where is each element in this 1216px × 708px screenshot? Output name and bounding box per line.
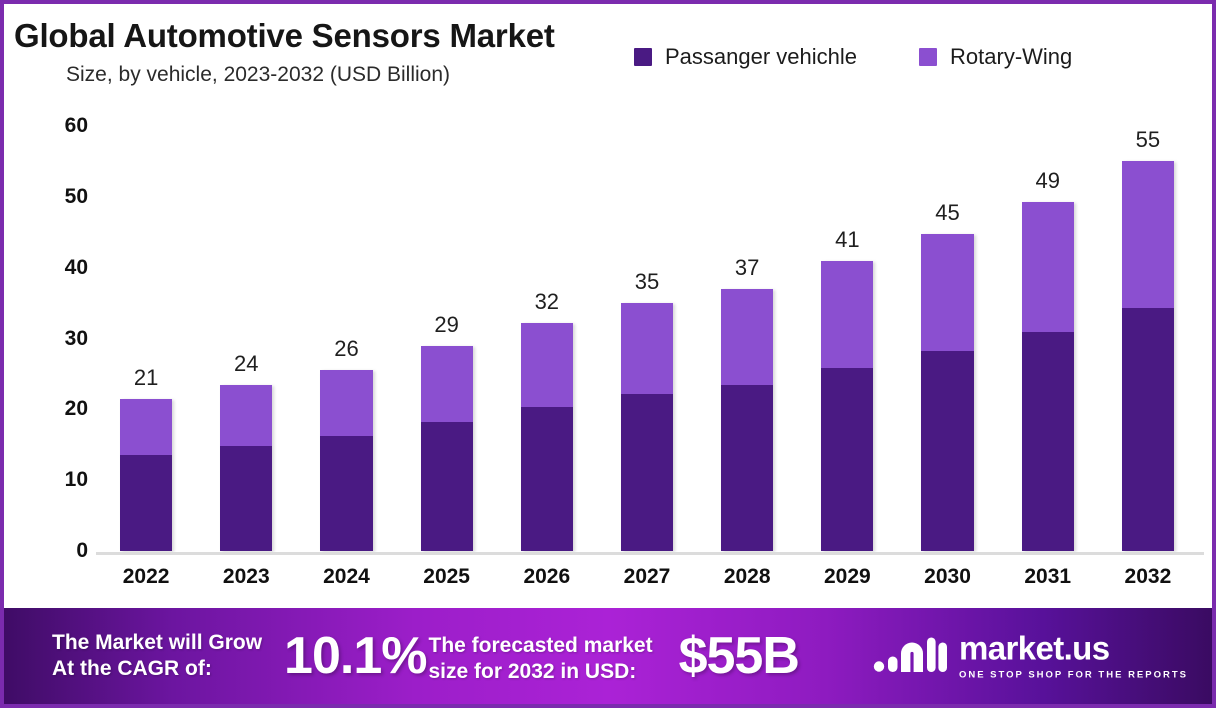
page-subtitle: Size, by vehicle, 2023-2032 (USD Billion… bbox=[66, 63, 634, 87]
logo-wordmark: market.us bbox=[959, 632, 1110, 665]
x-axis-tick: 2028 bbox=[724, 565, 771, 589]
y-axis-tick: 0 bbox=[76, 539, 88, 563]
bar-segment-passanger-vehichle[interactable] bbox=[621, 394, 673, 551]
bar-value-label: 37 bbox=[735, 255, 759, 281]
x-axis-tick: 2029 bbox=[824, 565, 871, 589]
y-axis-tick: 50 bbox=[65, 185, 88, 209]
bar-stack[interactable] bbox=[921, 234, 973, 551]
bar-group[interactable]: 41 bbox=[821, 126, 873, 551]
bar-segment-rotary-wing[interactable] bbox=[521, 323, 573, 407]
bar-segment-rotary-wing[interactable] bbox=[821, 261, 873, 369]
bar-segment-passanger-vehichle[interactable] bbox=[521, 407, 573, 551]
legend-swatch-icon bbox=[919, 48, 937, 66]
legend-item-passanger-vehichle[interactable]: Passanger vehichle bbox=[634, 44, 857, 70]
x-axis-tick: 2023 bbox=[223, 565, 270, 589]
bar-group[interactable]: 21 bbox=[120, 126, 172, 551]
bar-segment-rotary-wing[interactable] bbox=[120, 399, 172, 455]
x-axis-tick: 2022 bbox=[123, 565, 170, 589]
bar-segment-passanger-vehichle[interactable] bbox=[1122, 308, 1174, 551]
forecast-caption-line2: size for 2032 in USD: bbox=[429, 659, 653, 685]
forecast-value: $55B bbox=[679, 626, 799, 686]
x-axis: 2022202320242025202620272028202920302031… bbox=[96, 565, 1198, 601]
x-axis-tick: 2027 bbox=[624, 565, 671, 589]
cagr-caption-line2: At the CAGR of: bbox=[52, 656, 262, 682]
bar-segment-rotary-wing[interactable] bbox=[1122, 161, 1174, 308]
cagr-value: 10.1% bbox=[284, 626, 426, 686]
bar-segment-passanger-vehichle[interactable] bbox=[320, 436, 372, 551]
forecast-caption: The forecasted market size for 2032 in U… bbox=[429, 633, 653, 684]
legend-label: Passanger vehichle bbox=[665, 44, 857, 70]
bar-segment-rotary-wing[interactable] bbox=[421, 346, 473, 423]
bar-segment-passanger-vehichle[interactable] bbox=[721, 385, 773, 551]
brand-logo[interactable]: market.us ONE STOP SHOP FOR THE REPORTS bbox=[873, 632, 1188, 681]
chart-legend: Passanger vehichle Rotary-Wing bbox=[634, 44, 1072, 70]
bar-segment-passanger-vehichle[interactable] bbox=[821, 368, 873, 551]
bar-value-label: 41 bbox=[835, 227, 859, 253]
y-axis-tick: 60 bbox=[65, 114, 88, 138]
bar-group[interactable]: 45 bbox=[921, 126, 973, 551]
plot-area: 0102030405060 2124262932353741454955 202… bbox=[4, 116, 1212, 608]
y-axis: 0102030405060 bbox=[32, 126, 88, 551]
bar-stack[interactable] bbox=[120, 399, 172, 551]
bar-stack[interactable] bbox=[821, 261, 873, 551]
bar-stack[interactable] bbox=[521, 323, 573, 551]
chart-header: Global Automotive Sensors Market Size, b… bbox=[4, 4, 1212, 116]
bar-segment-rotary-wing[interactable] bbox=[921, 234, 973, 351]
title-block: Global Automotive Sensors Market Size, b… bbox=[14, 18, 634, 87]
bar-stack[interactable] bbox=[621, 303, 673, 551]
bar-stack[interactable] bbox=[320, 370, 372, 551]
bar-group[interactable]: 37 bbox=[721, 126, 773, 551]
bar-segment-rotary-wing[interactable] bbox=[721, 289, 773, 385]
bars-area: 2124262932353741454955 bbox=[96, 126, 1198, 551]
bar-group[interactable]: 24 bbox=[220, 126, 272, 551]
bar-group[interactable]: 49 bbox=[1022, 126, 1074, 551]
bar-segment-rotary-wing[interactable] bbox=[320, 370, 372, 436]
bar-value-label: 32 bbox=[535, 289, 559, 315]
bar-value-label: 35 bbox=[635, 269, 659, 295]
cagr-caption: The Market will Grow At the CAGR of: bbox=[52, 630, 262, 681]
bar-group[interactable]: 55 bbox=[1122, 126, 1174, 551]
bottom-banner: The Market will Grow At the CAGR of: 10.… bbox=[4, 608, 1212, 704]
x-axis-tick: 2031 bbox=[1024, 565, 1071, 589]
bar-group[interactable]: 26 bbox=[320, 126, 372, 551]
x-axis-tick: 2026 bbox=[523, 565, 570, 589]
bar-segment-rotary-wing[interactable] bbox=[220, 385, 272, 447]
y-axis-tick: 20 bbox=[65, 397, 88, 421]
legend-swatch-icon bbox=[634, 48, 652, 66]
forecast-caption-line1: The forecasted market bbox=[429, 633, 653, 659]
bar-value-label: 45 bbox=[935, 200, 959, 226]
bar-segment-rotary-wing[interactable] bbox=[621, 303, 673, 394]
bar-segment-passanger-vehichle[interactable] bbox=[421, 422, 473, 551]
bar-stack[interactable] bbox=[421, 346, 473, 551]
x-axis-tick: 2032 bbox=[1125, 565, 1172, 589]
bar-segment-passanger-vehichle[interactable] bbox=[220, 446, 272, 551]
logo-text: market.us ONE STOP SHOP FOR THE REPORTS bbox=[959, 632, 1188, 681]
bar-value-label: 29 bbox=[434, 312, 458, 338]
bar-value-label: 21 bbox=[134, 365, 158, 391]
x-axis-tick: 2025 bbox=[423, 565, 470, 589]
bar-value-label: 24 bbox=[234, 351, 258, 377]
chart-page: Global Automotive Sensors Market Size, b… bbox=[0, 0, 1216, 708]
axis-baseline bbox=[96, 552, 1204, 555]
cagr-caption-line1: The Market will Grow bbox=[52, 630, 262, 656]
bar-stack[interactable] bbox=[220, 385, 272, 551]
bar-segment-passanger-vehichle[interactable] bbox=[921, 351, 973, 551]
x-axis-tick: 2030 bbox=[924, 565, 971, 589]
page-title: Global Automotive Sensors Market bbox=[14, 18, 634, 54]
y-axis-tick: 10 bbox=[65, 468, 88, 492]
bar-segment-passanger-vehichle[interactable] bbox=[1022, 332, 1074, 551]
legend-item-rotary-wing[interactable]: Rotary-Wing bbox=[919, 44, 1072, 70]
bar-segment-rotary-wing[interactable] bbox=[1022, 202, 1074, 332]
bar-stack[interactable] bbox=[1022, 202, 1074, 551]
bar-stack[interactable] bbox=[1122, 161, 1174, 551]
legend-label: Rotary-Wing bbox=[950, 44, 1072, 70]
bar-value-label: 49 bbox=[1035, 168, 1059, 194]
market-us-wave-icon bbox=[873, 632, 947, 681]
y-axis-tick: 40 bbox=[65, 256, 88, 280]
y-axis-tick: 30 bbox=[65, 327, 88, 351]
bar-group[interactable]: 29 bbox=[421, 126, 473, 551]
bar-value-label: 55 bbox=[1136, 127, 1160, 153]
bar-value-label: 26 bbox=[334, 336, 358, 362]
bar-group[interactable]: 32 bbox=[521, 126, 573, 551]
bar-segment-passanger-vehichle[interactable] bbox=[120, 455, 172, 551]
bar-stack[interactable] bbox=[721, 289, 773, 551]
logo-tagline: ONE STOP SHOP FOR THE REPORTS bbox=[959, 670, 1188, 681]
bar-group[interactable]: 35 bbox=[621, 126, 673, 551]
x-axis-tick: 2024 bbox=[323, 565, 370, 589]
